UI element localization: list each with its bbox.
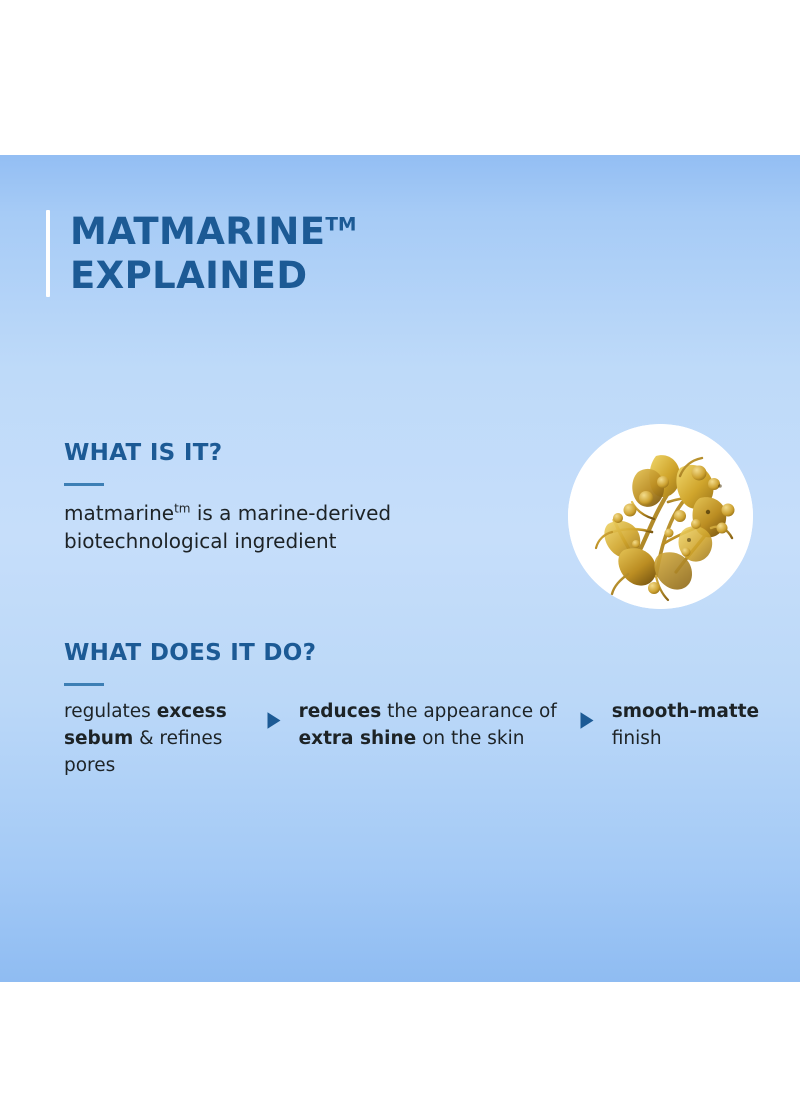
page-title-block: MATMARINETM EXPLAINED xyxy=(46,210,356,297)
triangle-right-icon xyxy=(562,699,612,730)
benefit-item-2: reduces the appearance of extra shine on… xyxy=(299,699,562,753)
page-title-line-2: EXPLAINED xyxy=(70,254,307,297)
benefit-2-text-part-4: on the skin xyxy=(416,728,524,749)
section-divider-dash xyxy=(64,683,104,686)
page-title: MATMARINETM EXPLAINED xyxy=(70,210,356,297)
title-accent-rule xyxy=(46,210,50,297)
infographic-canvas: MATMARINETM EXPLAINED WHAT IS IT? matmar… xyxy=(0,0,800,1096)
section-heading-what-does-it-do: WHAT DOES IT DO? xyxy=(64,640,764,666)
section-divider-dash xyxy=(64,483,104,486)
benefit-1-text-part-1: regulates xyxy=(64,701,157,722)
benefit-2-text-part-1: reduces xyxy=(299,701,382,722)
benefit-2-text-part-3: extra shine xyxy=(299,728,417,749)
section-heading-what-is-it: WHAT IS IT? xyxy=(64,440,534,466)
section-body-what-is-it: matmarinetm is a marine-derived biotechn… xyxy=(64,499,534,556)
benefits-row: regulates excess sebum & refines pores r… xyxy=(64,699,764,779)
page-title-brand: MATMARINE xyxy=(70,210,325,253)
seaweed-circle-image xyxy=(568,424,753,609)
benefit-3-text-part-1: smooth-matte xyxy=(612,701,759,722)
section-what-does-it-do: WHAT DOES IT DO? regulates excess sebum … xyxy=(64,640,764,779)
page-title-line-1: MATMARINETM xyxy=(70,210,356,253)
benefit-item-1: regulates excess sebum & refines pores xyxy=(64,699,249,779)
trademark-superscript: TM xyxy=(325,215,356,236)
ingredient-name: matmarine xyxy=(64,501,174,525)
ingredient-trademark-superscript: tm xyxy=(174,501,190,515)
section-what-is-it: WHAT IS IT? matmarinetm is a marine-deri… xyxy=(64,440,534,556)
benefit-2-text-part-2: the appearance of xyxy=(381,701,557,722)
triangle-right-icon xyxy=(249,699,299,730)
benefit-item-3: smooth-matte finish xyxy=(612,699,764,753)
benefit-3-text-part-2: finish xyxy=(612,728,662,749)
